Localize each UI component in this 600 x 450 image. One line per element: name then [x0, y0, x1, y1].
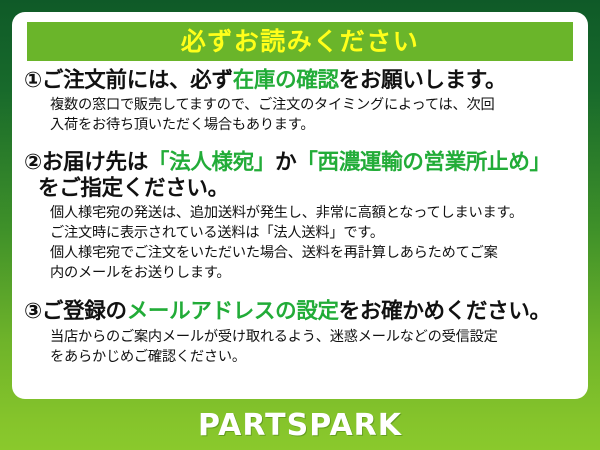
item-1-body-line-1: 複数の窓口で販売してますので、ご注文のタイミングによっては、次回 [50, 95, 578, 115]
notice-item-2-heading-line2: をご指定ください。 [38, 176, 578, 201]
item-3-heading-part-3: をお確かめください。 [339, 299, 551, 324]
notice-item-3: ③ご登録のメールアドレスの設定をお確かめください。 当店からのご案内メールが受け… [12, 299, 588, 366]
title-banner: 必ずお読みください [27, 22, 573, 61]
notice-item-1-body: 複数の窓口で販売してますので、ご注文のタイミングによっては、次回 入荷をお待ち頂… [50, 95, 578, 135]
footer-logo: PARTSPARK [0, 400, 600, 450]
notice-items-list: ①ご注文前には、必ず在庫の確認をお願いします。 複数の窓口で販売してますので、ご… [12, 68, 588, 367]
notice-item-2: ②お届け先は「法人様宛」か「西濃運輸の営業所止め」 をご指定ください。 個人様宅… [12, 150, 588, 283]
item-2-heading-part-1: お届け先は [42, 150, 148, 175]
item-1-body-line-2: 入荷をお待ち頂いただく場合もあります。 [50, 115, 578, 135]
item-2-body-line-1: 個人様宅宛の発送は、追加送料が発生し、非常に高額となってしまいます。 [50, 203, 578, 223]
item-1-heading-highlight: 在庫の確認 [233, 68, 339, 93]
item-2-heading-part-3: か [275, 150, 296, 175]
notice-item-3-body: 当店からのご案内メールが受け取れるよう、迷惑メールなどの受信設定 をあらかじめご… [50, 327, 578, 367]
item-2-body-line-4: 内のメールをお送りします。 [50, 263, 578, 283]
item-2-marker: ② [24, 150, 42, 175]
notice-card: 必ずお読みください ①ご注文前には、必ず在庫の確認をお願いします。 複数の窓口で… [12, 12, 588, 399]
item-2-body-line-3: 個人様宅宛でご注文をいただいた場合、送料を再計算しあらためてご案 [50, 243, 578, 263]
item-3-marker: ③ [24, 299, 42, 324]
notice-item-3-heading: ③ご登録のメールアドレスの設定をお確かめください。 [24, 299, 578, 324]
notice-poster: 必ずお読みください ①ご注文前には、必ず在庫の確認をお願いします。 複数の窓口で… [0, 0, 600, 450]
item-3-heading-highlight: メールアドレスの設定 [127, 299, 339, 324]
item-2-heading-highlight-2: 「西濃運輸の営業所止め」 [296, 150, 550, 175]
item-1-heading-part-3: をお願いします。 [339, 68, 506, 93]
notice-item-2-heading: ②お届け先は「法人様宛」か「西濃運輸の営業所止め」 [24, 150, 578, 175]
notice-item-2-body: 個人様宅宛の発送は、追加送料が発生し、非常に高額となってしまいます。 ご注文時に… [50, 203, 578, 284]
notice-item-1: ①ご注文前には、必ず在庫の確認をお願いします。 複数の窓口で販売してますので、ご… [12, 68, 588, 135]
item-3-body-line-1: 当店からのご案内メールが受け取れるよう、迷惑メールなどの受信設定 [50, 327, 578, 347]
brand-logo-text: PARTSPARK [198, 408, 402, 443]
item-1-marker: ① [24, 68, 42, 93]
item-3-heading-part-1: ご登録の [42, 299, 127, 324]
item-2-body-line-2: ご注文時に表示されている送料は「法人送料」です。 [50, 223, 578, 243]
item-2-heading-highlight-1: 「法人様宛」 [148, 150, 275, 175]
item-1-heading-part-1: ご注文前には、必ず [42, 68, 233, 93]
page-title: 必ずお読みください [181, 29, 420, 54]
item-3-body-line-2: をあらかじめご確認ください。 [50, 347, 578, 367]
notice-item-1-heading: ①ご注文前には、必ず在庫の確認をお願いします。 [24, 68, 578, 93]
